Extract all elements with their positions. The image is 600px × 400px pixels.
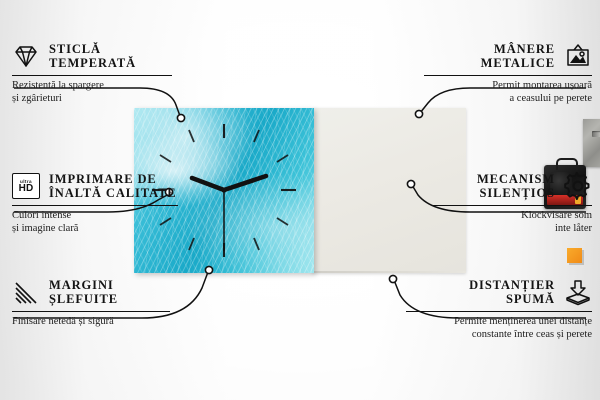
feature-polished-edges: MARGINI ȘLEFUITE Finisare netedă și sigu…: [12, 278, 170, 329]
title-rule: [424, 75, 592, 76]
polished-edge-icon: [12, 278, 40, 306]
feature-title: MÂNERE METALICE: [481, 42, 555, 70]
ultra-hd-icon: ultra HD: [12, 173, 40, 199]
feature-title: MECANISM SILENȚIOS: [477, 172, 555, 200]
title-rule: [12, 75, 172, 76]
feature-metal-hooks: MÂNERE METALICE Permit montarea ușoară a…: [424, 42, 592, 105]
feature-foam-spacer: DISTANȚIER SPUMĂ Permite menținerea unei…: [406, 278, 592, 341]
connector-dot-foam: [389, 275, 396, 282]
feature-title: MARGINI ȘLEFUITE: [49, 278, 118, 306]
feature-header: STICLĂ TEMPERATĂ: [12, 42, 172, 70]
gear-icon: [564, 172, 592, 200]
feature-tempered-glass: STICLĂ TEMPERATĂ Rezistentă la spargere …: [12, 42, 172, 105]
feature-header: MECANISM SILENȚIOS: [432, 172, 592, 200]
diamond-icon: [12, 42, 40, 70]
feature-subtitle: Permite menținerea unei distanțe constan…: [406, 316, 592, 341]
feature-header: DISTANȚIER SPUMĂ: [406, 278, 592, 306]
feature-title: STICLĂ TEMPERATĂ: [49, 42, 136, 70]
connector-dot-edges: [205, 266, 212, 273]
feature-header: ultra HD IMPRIMARE DE ÎNALTĂ CALITATE: [12, 172, 178, 200]
infographic-canvas: STICLĂ TEMPERATĂ Rezistentă la spargere …: [0, 0, 600, 400]
title-rule: [12, 205, 178, 206]
feature-hd-print: ultra HD IMPRIMARE DE ÎNALTĂ CALITATE Cu…: [12, 172, 178, 235]
connector-dot-hooks: [415, 110, 422, 117]
connector-dot-mechanism: [407, 180, 414, 187]
feature-subtitle: Finisare netedă și sigură: [12, 316, 170, 329]
feature-subtitle: Permit montarea ușoară a ceasului pe per…: [424, 80, 592, 105]
feature-header: MARGINI ȘLEFUITE: [12, 278, 170, 306]
feature-title: IMPRIMARE DE ÎNALTĂ CALITATE: [49, 172, 177, 200]
title-rule: [12, 311, 170, 312]
feature-header: MÂNERE METALICE: [424, 42, 592, 70]
title-rule: [432, 205, 592, 206]
feature-subtitle: Rezistentă la spargere și zgârieturi: [12, 80, 172, 105]
connector-dot-glass: [177, 114, 184, 121]
feature-subtitle: Culori intense și imagine clară: [12, 210, 178, 235]
feature-silent-mechanism: MECANISM SILENȚIOS Klockvisare som inte …: [432, 172, 592, 235]
press-down-spacer-icon: [564, 278, 592, 306]
picture-frame-hanger-icon: [564, 42, 592, 70]
feature-title: DISTANȚIER SPUMĂ: [469, 278, 555, 306]
title-rule: [406, 311, 592, 312]
feature-subtitle: Klockvisare som inte låter: [432, 210, 592, 235]
